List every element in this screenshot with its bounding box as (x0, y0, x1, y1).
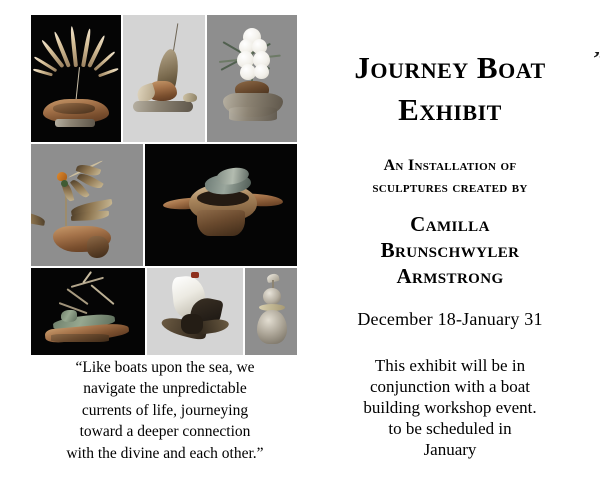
sculpture-oar-bowl (145, 144, 297, 266)
gallery-row (31, 268, 297, 355)
gallery-row (31, 144, 297, 266)
sculpture-leaf-sail-log (123, 15, 205, 142)
sculpture-antler-vessel (31, 15, 121, 142)
exhibit-dates: December 18-January 31 (300, 309, 600, 330)
page-title: Journey Boat Exhibit (300, 47, 600, 131)
sculpture-gallery-grid (31, 15, 297, 355)
gallery-row (31, 15, 297, 142)
sculpture-stacked-stones (245, 268, 297, 355)
artist-line-3: Armstrong (300, 264, 600, 290)
exhibit-quote: “Like boats upon the sea, we navigate th… (28, 357, 302, 464)
artist-name: Camilla Brunschwyler Armstrong (300, 212, 600, 289)
sculpture-shell-sail (147, 268, 243, 355)
exhibit-poster: “Like boats upon the sea, we navigate th… (0, 0, 600, 485)
artist-line-2: Brunschwyler (300, 238, 600, 264)
sculpture-feather-mast (31, 144, 143, 266)
cropped-quote-glyph: ” (593, 52, 600, 66)
title-line-2: Exhibit (300, 89, 600, 131)
subtitle-line-1: An Installation of (300, 155, 600, 177)
sculpture-white-sail-ship (207, 15, 297, 142)
subtitle-line-2: sculptures created by (300, 177, 600, 199)
artist-line-1: Camilla (300, 212, 600, 238)
exhibit-subtitle: An Installation of sculptures created by (300, 155, 600, 200)
title-line-1: Journey Boat (300, 47, 600, 89)
sculpture-branch-canoe (31, 268, 145, 355)
poster-text-column: Journey Boat Exhibit An Installation of … (300, 0, 600, 485)
workshop-note: This exhibit will be in conjunction with… (300, 356, 600, 461)
